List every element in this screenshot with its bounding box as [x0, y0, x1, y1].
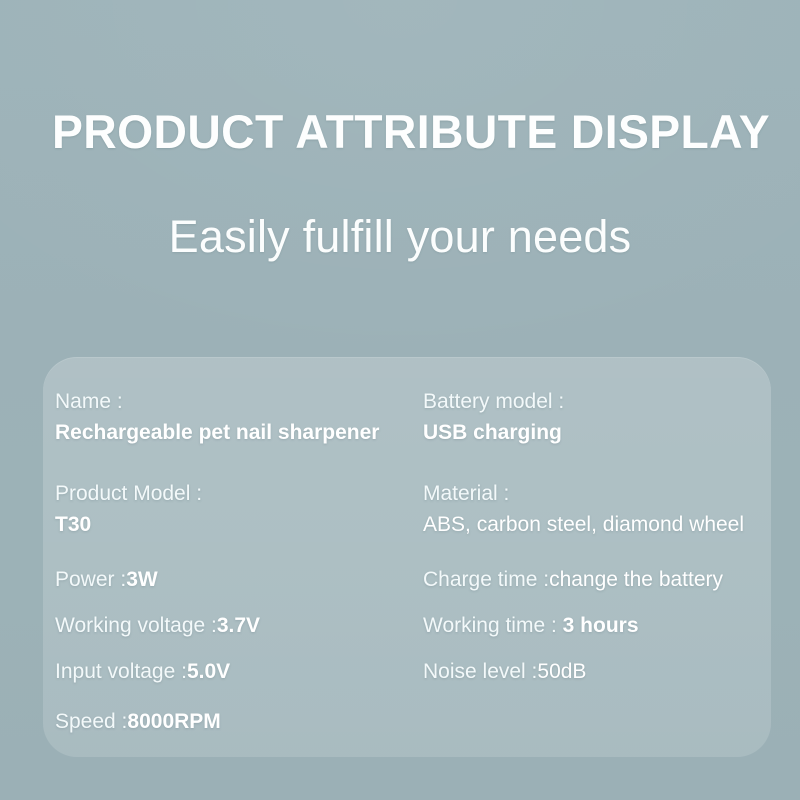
spec-label-power: Power :: [55, 568, 126, 591]
spec-value-speed: 8000RPM: [127, 710, 220, 733]
spec-row-noise-level: Noise level :50dB: [423, 657, 586, 687]
spec-value-working-voltage: 3.7V: [217, 614, 260, 637]
spec-label-noise-level: Noise level :: [423, 660, 537, 683]
page-subtitle: Easily fulfill your needs: [0, 208, 800, 266]
spec-row-working-voltage: Working voltage :3.7V: [55, 611, 260, 641]
spec-row-working-time: Working time : 3 hours: [423, 611, 639, 641]
product-attribute-slide: PRODUCT ATTRIBUTE DISPLAY Easily fulfill…: [0, 0, 800, 800]
page-title: PRODUCT ATTRIBUTE DISPLAY: [52, 104, 761, 160]
spec-label-speed: Speed :: [55, 710, 127, 733]
spec-value-input-voltage: 5.0V: [187, 660, 230, 683]
specifications-card: Name : Rechargeable pet nail sharpener P…: [43, 357, 771, 757]
spec-label-input-voltage: Input voltage :: [55, 660, 187, 683]
spec-row-product-model: Product Model : T30: [55, 479, 202, 540]
spec-value-product-model: T30: [55, 509, 202, 540]
spec-value-power: 3W: [126, 568, 158, 591]
spec-value-battery-model: USB charging: [423, 417, 564, 448]
spec-row-input-voltage: Input voltage :5.0V: [55, 657, 230, 687]
spec-row-material: Material : ABS, carbon steel, diamond wh…: [423, 479, 744, 540]
spec-value-working-time: 3 hours: [563, 614, 639, 637]
spec-value-material: ABS, carbon steel, diamond wheel: [423, 509, 744, 540]
spec-label-working-voltage: Working voltage :: [55, 614, 217, 637]
spec-value-charge-time: change the battery: [549, 568, 723, 591]
spec-label-working-time: Working time :: [423, 614, 557, 637]
spec-row-power: Power :3W: [55, 565, 158, 595]
spec-row-name: Name : Rechargeable pet nail sharpener: [55, 387, 379, 448]
spec-label-battery-model: Battery model :: [423, 387, 564, 417]
spec-row-battery-model: Battery model : USB charging: [423, 387, 564, 448]
spec-value-name: Rechargeable pet nail sharpener: [55, 417, 379, 448]
spec-row-charge-time: Charge time :change the battery: [423, 565, 723, 595]
spec-label-name: Name :: [55, 387, 379, 417]
spec-value-noise-level: 50dB: [537, 660, 586, 683]
spec-label-product-model: Product Model :: [55, 479, 202, 509]
spec-label-material: Material :: [423, 479, 744, 509]
spec-row-speed: Speed :8000RPM: [55, 707, 221, 737]
spec-label-charge-time: Charge time :: [423, 568, 549, 591]
